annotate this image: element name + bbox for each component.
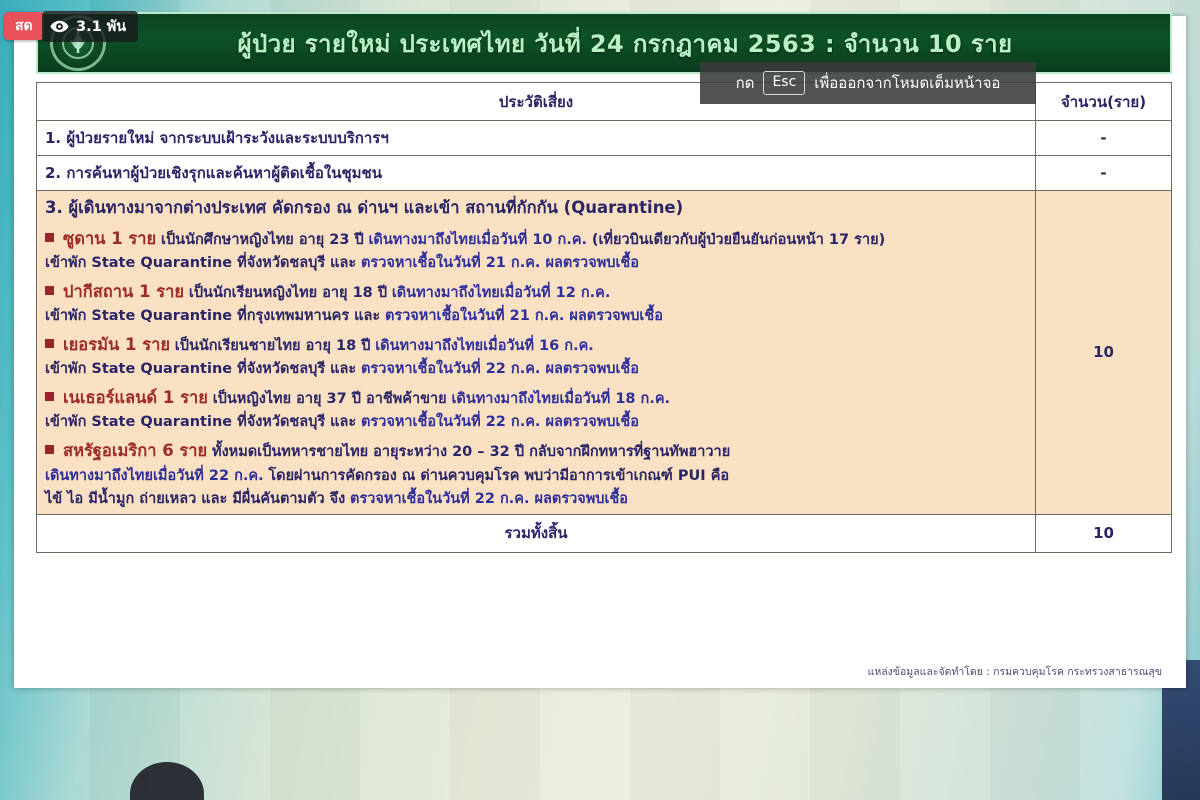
bullet-square-icon bbox=[45, 233, 54, 242]
row-count-2: - bbox=[1036, 156, 1172, 191]
case-description: เป็นนักศึกษาหญิงไทย อายุ 23 ปี bbox=[161, 232, 364, 248]
total-label: รวมทั้งสิ้น bbox=[37, 514, 1036, 552]
case-note: (เที่ยวบินเดียวกับผู้ป่วยยืนยันก่อนหน้า … bbox=[592, 232, 885, 248]
quarantine-location: เข้าพัก State Quarantine ที่จังหวัดชลบุร… bbox=[45, 361, 356, 377]
country-label: สหรัฐอเมริกา 6 ราย bbox=[63, 441, 207, 460]
table-row: 2. การค้นหาผู้ป่วยเชิงรุกและค้นหาผู้ติดเ… bbox=[37, 156, 1172, 191]
bullet-square-icon bbox=[45, 445, 54, 454]
eye-icon bbox=[50, 20, 69, 33]
table-row: 1. ผู้ป่วยรายใหม่ จากระบบเฝ้าระวังและระบ… bbox=[37, 121, 1172, 156]
test-result: ตรวจหาเชื้อในวันที่ 21 ก.ค. ผลตรวจพบเชื้… bbox=[361, 255, 639, 271]
arrival-date: เดินทางมาถึงไทยเมื่อวันที่ 12 ก.ค. bbox=[392, 285, 611, 301]
bullet-square-icon bbox=[45, 392, 54, 401]
arrival-date: เดินทางมาถึงไทยเมื่อวันที่ 10 ก.ค. bbox=[368, 232, 587, 248]
country-label: ปากีสถาน 1 ราย bbox=[63, 282, 184, 301]
quarantine-location: เข้าพัก State Quarantine ที่จังหวัดชลบุร… bbox=[45, 414, 356, 430]
presentation-slide: ผู้ป่วย รายใหม่ ประเทศไทย วันที่ 24 กรกฎ… bbox=[14, 16, 1186, 688]
arrival-date: เดินทางมาถึงไทยเมื่อวันที่ 16 ก.ค. bbox=[375, 338, 594, 354]
esc-key-cap: Esc bbox=[763, 71, 805, 95]
list-item: เนเธอร์แลนด์ 1 ราย เป็นหญิงไทย อายุ 37 ป… bbox=[45, 385, 1027, 433]
section-3-title: 3. ผู้เดินทางมาจากต่างประเทศ คัดกรอง ณ ด… bbox=[45, 195, 1027, 221]
symptom-list: ไข้ ไอ มีน้ำมูก ถ่ายเหลว และ มีผื่นคันตา… bbox=[45, 491, 345, 507]
fullscreen-exit-toast: กด Esc เพื่อออกจากโหมดเต็มหน้าจอ bbox=[700, 62, 1036, 104]
quarantine-location: เข้าพัก State Quarantine ที่จังหวัดชลบุร… bbox=[45, 255, 356, 271]
presenter-silhouette bbox=[130, 762, 204, 800]
header-count: จำนวน(ราย) bbox=[1036, 83, 1172, 121]
viewer-count-label: 3.1 พัน bbox=[76, 15, 126, 38]
list-item: สหรัฐอเมริกา 6 ราย ทั้งหมดเป็นทหารชายไทย… bbox=[45, 438, 1027, 509]
case-description: เป็นหญิงไทย อายุ 37 ปี อาชีพค้าขาย bbox=[213, 391, 447, 407]
source-credit: แหล่งข้อมูลและจัดทำโดย : กรมควบคุมโรค กร… bbox=[868, 663, 1162, 680]
arrival-date: เดินทางมาถึงไทยเมื่อวันที่ 18 ก.ค. bbox=[451, 391, 670, 407]
country-label: เนเธอร์แลนด์ 1 ราย bbox=[63, 388, 208, 407]
case-description: เป็นนักเรียนหญิงไทย อายุ 18 ปี bbox=[189, 285, 387, 301]
quarantine-location: เข้าพัก State Quarantine ที่กรุงเทพมหานค… bbox=[45, 308, 380, 324]
esc-toast-prefix: กด bbox=[736, 71, 755, 95]
test-result: ตรวจหาเชื้อในวันที่ 21 ก.ค. ผลตรวจพบเชื้… bbox=[385, 308, 663, 324]
country-label: เยอรมัน 1 ราย bbox=[63, 335, 170, 354]
section-3-count: 10 bbox=[1036, 191, 1172, 515]
test-result: ตรวจหาเชื้อในวันที่ 22 ก.ค. ผลตรวจพบเชื้… bbox=[361, 361, 639, 377]
case-summary-table: ประวัติเสี่ยง จำนวน(ราย) 1. ผู้ป่วยรายให… bbox=[36, 82, 1172, 553]
bullet-square-icon bbox=[45, 339, 54, 348]
esc-toast-suffix: เพื่อออกจากโหมดเต็มหน้าจอ bbox=[814, 71, 1000, 95]
table-row-section-3: 3. ผู้เดินทางมาจากต่างประเทศ คัดกรอง ณ ด… bbox=[37, 191, 1172, 515]
total-count: 10 bbox=[1036, 514, 1172, 552]
live-badge: สด bbox=[4, 12, 44, 40]
row-count-1: - bbox=[1036, 121, 1172, 156]
arrival-date: เดินทางมาถึงไทยเมื่อวันที่ 22 ก.ค. bbox=[45, 468, 264, 484]
section-3-cell: 3. ผู้เดินทางมาจากต่างประเทศ คัดกรอง ณ ด… bbox=[37, 191, 1036, 515]
bullet-square-icon bbox=[45, 286, 54, 295]
row-label-1: 1. ผู้ป่วยรายใหม่ จากระบบเฝ้าระวังและระบ… bbox=[37, 121, 1036, 156]
case-description: ทั้งหมดเป็นทหารชายไทย อายุระหว่าง 20 – 3… bbox=[212, 444, 730, 460]
list-item: ซูดาน 1 ราย เป็นนักศึกษาหญิงไทย อายุ 23 … bbox=[45, 226, 1027, 274]
test-result: ตรวจหาเชื้อในวันที่ 22 ก.ค. ผลตรวจพบเชื้… bbox=[350, 491, 628, 507]
viewer-count-chip: 3.1 พัน bbox=[42, 11, 138, 42]
test-result: ตรวจหาเชื้อในวันที่ 22 ก.ค. ผลตรวจพบเชื้… bbox=[361, 414, 639, 430]
screening-note: โดยผ่านการคัดกรอง ณ ด่านควบคุมโรค พบว่าม… bbox=[268, 468, 729, 484]
table-total-row: รวมทั้งสิ้น 10 bbox=[37, 514, 1172, 552]
list-item: เยอรมัน 1 ราย เป็นนักเรียนชายไทย อายุ 18… bbox=[45, 332, 1027, 380]
list-item: ปากีสถาน 1 ราย เป็นนักเรียนหญิงไทย อายุ … bbox=[45, 279, 1027, 327]
case-description: เป็นนักเรียนชายไทย อายุ 18 ปี bbox=[175, 338, 371, 354]
video-frame: ผู้ป่วย รายใหม่ ประเทศไทย วันที่ 24 กรกฎ… bbox=[0, 0, 1200, 800]
row-label-2: 2. การค้นหาผู้ป่วยเชิงรุกและค้นหาผู้ติดเ… bbox=[37, 156, 1036, 191]
country-label: ซูดาน 1 ราย bbox=[63, 229, 156, 248]
slide-title: ผู้ป่วย รายใหม่ ประเทศไทย วันที่ 24 กรกฎ… bbox=[106, 24, 1170, 63]
